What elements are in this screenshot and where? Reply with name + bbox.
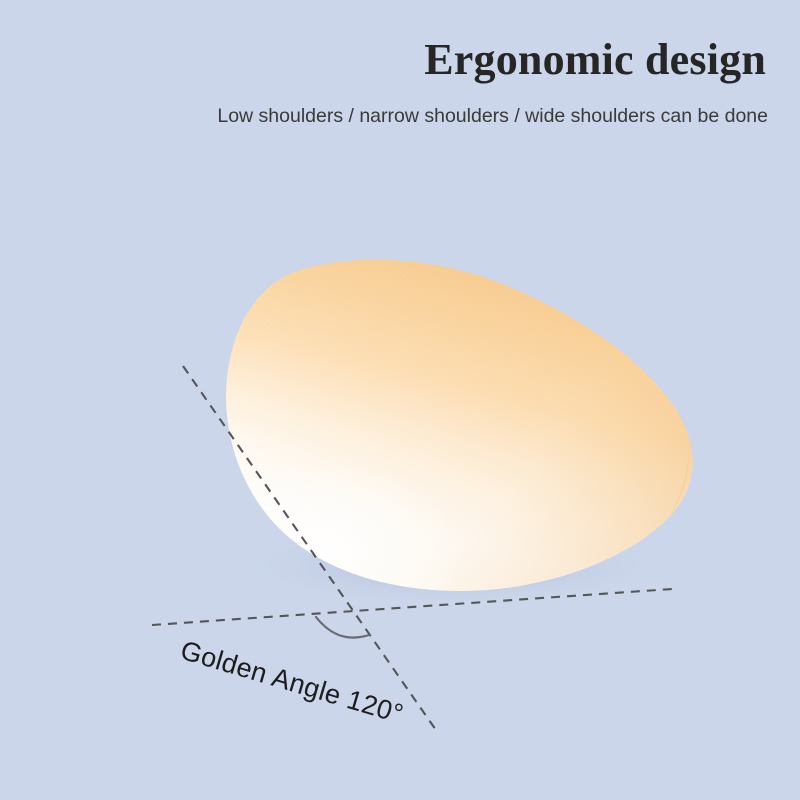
page-title: Ergonomic design bbox=[0, 34, 766, 86]
product-infographic: Ergonomic design Low shoulders / narrow … bbox=[0, 0, 800, 800]
angle-arc bbox=[316, 617, 369, 638]
page-subtitle: Low shoulders / narrow shoulders / wide … bbox=[0, 104, 768, 128]
